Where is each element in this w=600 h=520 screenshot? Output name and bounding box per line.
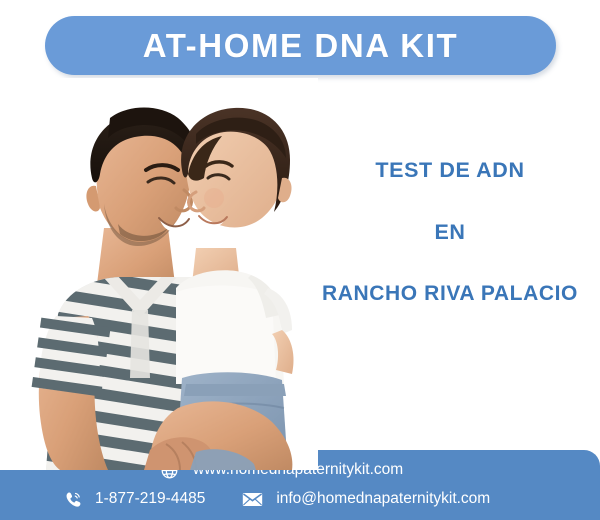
phone-number[interactable]: 1-877-219-4485 — [95, 490, 205, 508]
header-banner: AT-HOME DNA KIT — [45, 16, 556, 75]
phone-icon — [62, 488, 84, 510]
headline-block: TEST DE ADN EN RANCHO RIVA PALACIO — [300, 160, 600, 304]
hero-photo — [0, 78, 318, 470]
page-title: AT-HOME DNA KIT — [143, 29, 458, 62]
headline-line-3: RANCHO RIVA PALACIO — [300, 283, 600, 304]
footer-contact-row: 1-877-219-4485 info@homednapaternitykit.… — [62, 486, 490, 512]
poster-canvas: AT-HOME DNA KIT — [0, 0, 600, 520]
envelope-icon — [241, 488, 263, 510]
father-child-photo-illustration — [0, 78, 318, 470]
headline-line-2: EN — [300, 222, 600, 244]
headline-line-1: TEST DE ADN — [300, 160, 600, 182]
email-address[interactable]: info@homednapaternitykit.com — [276, 490, 490, 508]
